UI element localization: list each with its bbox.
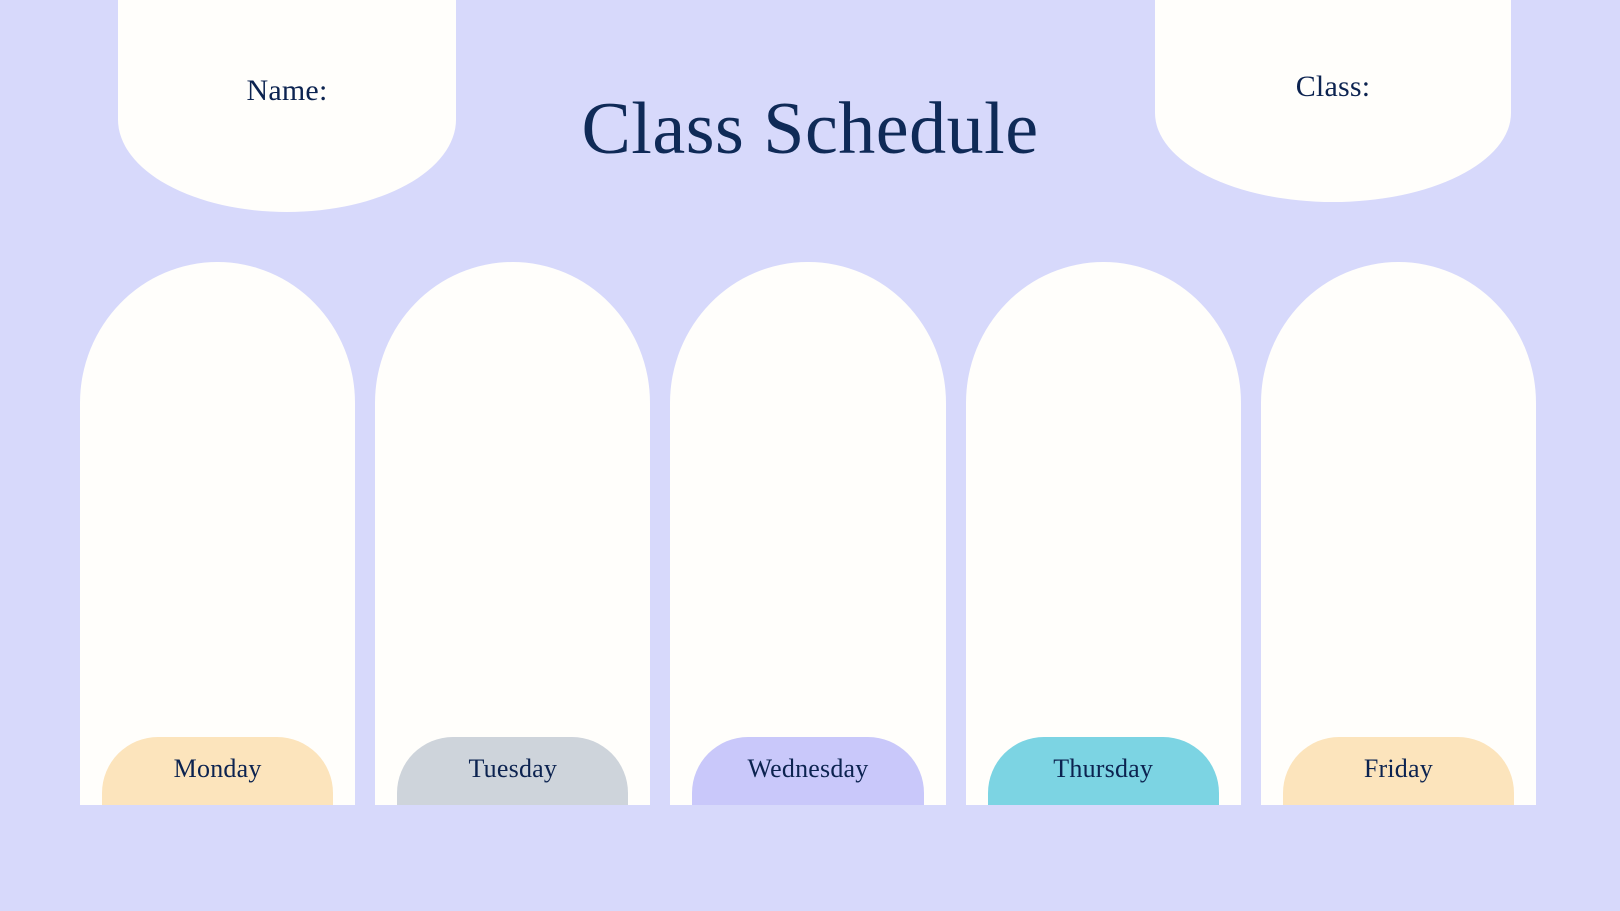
class-schedule-page: Name: Class: Class Schedule Monday Tuesd… bbox=[0, 0, 1620, 911]
day-name-friday: Friday bbox=[1364, 754, 1433, 784]
day-label-pill-wednesday: Wednesday bbox=[692, 737, 923, 805]
header: Name: Class: Class Schedule bbox=[0, 0, 1620, 250]
day-name-tuesday: Tuesday bbox=[469, 754, 558, 784]
day-label-pill-monday: Monday bbox=[102, 737, 333, 805]
day-column-wednesday[interactable]: Wednesday bbox=[670, 262, 945, 805]
day-name-monday: Monday bbox=[174, 754, 262, 784]
day-label-pill-friday: Friday bbox=[1283, 737, 1514, 805]
page-title: Class Schedule bbox=[0, 92, 1620, 166]
day-notes-monday[interactable] bbox=[80, 382, 355, 695]
day-notes-wednesday[interactable] bbox=[670, 382, 945, 695]
day-column-thursday[interactable]: Thursday bbox=[966, 262, 1241, 805]
day-notes-thursday[interactable] bbox=[966, 382, 1241, 695]
day-notes-friday[interactable] bbox=[1261, 382, 1536, 695]
day-column-tuesday[interactable]: Tuesday bbox=[375, 262, 650, 805]
day-column-friday[interactable]: Friday bbox=[1261, 262, 1536, 805]
day-name-wednesday: Wednesday bbox=[748, 754, 869, 784]
day-notes-tuesday[interactable] bbox=[375, 382, 650, 695]
schedule-grid: Monday Tuesday Wednesday Thursday Friday bbox=[80, 262, 1536, 805]
day-column-monday[interactable]: Monday bbox=[80, 262, 355, 805]
day-name-thursday: Thursday bbox=[1053, 754, 1153, 784]
day-label-pill-thursday: Thursday bbox=[988, 737, 1219, 805]
day-label-pill-tuesday: Tuesday bbox=[397, 737, 628, 805]
